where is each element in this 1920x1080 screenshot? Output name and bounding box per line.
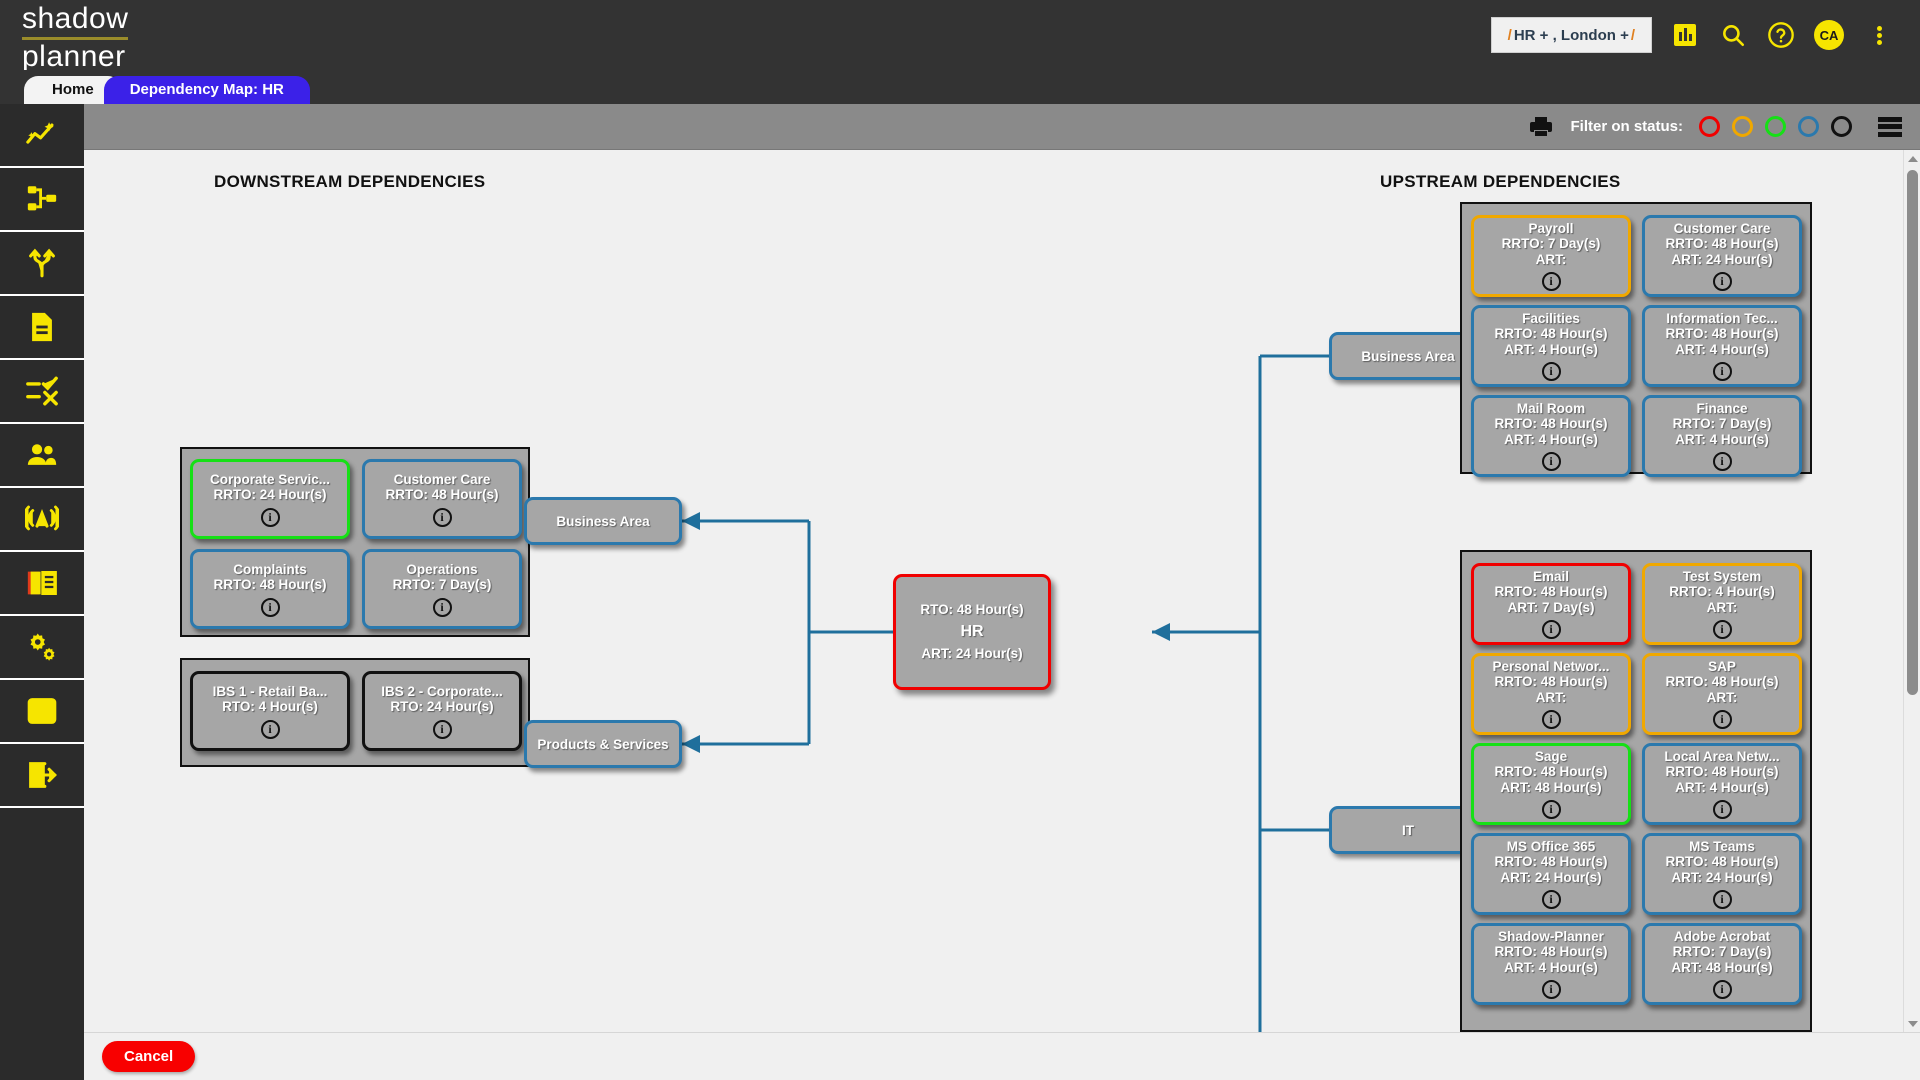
card-metric-2: ART: 7 Day(s): [1507, 600, 1594, 616]
card-metric-1: RRTO: 7 Day(s): [1502, 236, 1601, 252]
info-icon[interactable]: i: [1542, 362, 1561, 381]
card-finance[interactable]: Finance RRTO: 7 Day(s) ART: 4 Hour(s) i: [1642, 395, 1802, 477]
card-metric-2: ART: 48 Hour(s): [1671, 960, 1772, 976]
card-metric-2: ART: 4 Hour(s): [1675, 342, 1769, 358]
context-value: HR + , London +: [1514, 27, 1629, 44]
status-filter-green[interactable]: [1765, 116, 1786, 137]
center-node-hr[interactable]: RTO: 48 Hour(s) HR ART: 24 Hour(s): [893, 574, 1051, 690]
card-metric-1: RRTO: 48 Hour(s): [1494, 854, 1607, 870]
sidebar-item-analytics[interactable]: [0, 104, 84, 168]
card-name: Complaints: [229, 562, 311, 578]
card-name: IBS 1 - Retail Ba...: [209, 684, 332, 700]
print-icon[interactable]: [1530, 117, 1552, 137]
info-icon[interactable]: i: [433, 598, 452, 617]
login-icon: [25, 694, 59, 728]
sidebar-item-hierarchy[interactable]: [0, 168, 84, 232]
card-local-area-network[interactable]: Local Area Netw... RRTO: 48 Hour(s) ART:…: [1642, 743, 1802, 825]
card-name: Corporate Servic...: [206, 472, 334, 488]
card-information-technology[interactable]: Information Tec... RRTO: 48 Hour(s) ART:…: [1642, 305, 1802, 387]
card-metric-2: ART: 4 Hour(s): [1504, 960, 1598, 976]
logout-icon: [25, 758, 59, 792]
card-name: Sage: [1531, 749, 1571, 765]
card-customer-care-downstream[interactable]: Customer Care RRTO: 48 Hour(s) i: [362, 459, 522, 539]
avatar-initials: CA: [1814, 20, 1844, 50]
list-view-icon[interactable]: [1878, 117, 1902, 137]
card-metric-1: RRTO: 48 Hour(s): [1494, 764, 1607, 780]
card-name: Information Tec...: [1662, 311, 1782, 327]
info-icon[interactable]: i: [261, 598, 280, 617]
info-icon[interactable]: i: [1713, 272, 1732, 291]
card-metric-2: ART: 4 Hour(s): [1675, 780, 1769, 796]
card-name: Adobe Acrobat: [1670, 929, 1774, 945]
card-metric-1: RRTO: 24 Hour(s): [213, 487, 326, 503]
info-icon[interactable]: i: [1542, 980, 1561, 999]
top-header-bar: shadow planner / HR + , London + / CA: [0, 0, 1920, 70]
canvas-vertical-scrollbar[interactable]: [1903, 150, 1920, 1032]
card-metric-1: RRTO: 48 Hour(s): [1494, 326, 1607, 342]
left-nav-rail: [0, 104, 84, 1080]
pill-downstream-business-area[interactable]: Business Area: [524, 497, 682, 545]
card-metric-2: ART:: [1707, 600, 1738, 616]
report-icon[interactable]: [1668, 18, 1702, 52]
info-icon[interactable]: i: [1542, 272, 1561, 291]
card-metric-1: RRTO: 48 Hour(s): [1665, 236, 1778, 252]
context-suffix: /: [1629, 27, 1637, 44]
info-icon[interactable]: i: [1713, 710, 1732, 729]
card-name: Shadow-Planner: [1494, 929, 1608, 945]
tab-strip: Home Dependency Map: HR: [0, 70, 1920, 104]
card-name: Test System: [1679, 569, 1766, 585]
card-shadow-planner[interactable]: Shadow-Planner RRTO: 48 Hour(s) ART: 4 H…: [1471, 923, 1631, 1005]
app-logo[interactable]: shadow planner: [22, 4, 192, 73]
info-icon[interactable]: i: [433, 508, 452, 527]
info-icon[interactable]: i: [261, 508, 280, 527]
upstream-title: UPSTREAM DEPENDENCIES: [1380, 172, 1621, 192]
card-name: Email: [1529, 569, 1573, 585]
card-metric-1: RRTO: 48 Hour(s): [1665, 674, 1778, 690]
sidebar-item-checklist[interactable]: [0, 360, 84, 424]
card-metric-2: ART:: [1536, 252, 1567, 268]
card-metric-2: ART: 4 Hour(s): [1675, 432, 1769, 448]
scroll-down-arrow[interactable]: [1904, 1015, 1920, 1032]
card-metric-2: ART:: [1536, 690, 1567, 706]
card-metric-1: RRTO: 48 Hour(s): [213, 577, 326, 593]
card-name: Personal Networ...: [1488, 659, 1613, 675]
status-filter-black[interactable]: [1831, 116, 1852, 137]
card-customer-care-upstream[interactable]: Customer Care RRTO: 48 Hour(s) ART: 24 H…: [1642, 215, 1802, 297]
footer-bar: Cancel: [84, 1032, 1920, 1080]
card-name: Customer Care: [1670, 221, 1775, 237]
center-rto: RTO: 48 Hour(s): [920, 600, 1023, 620]
card-ibs-2-corporate[interactable]: IBS 2 - Corporate... RTO: 24 Hour(s) i: [362, 671, 522, 751]
card-metric-1: RTO: 24 Hour(s): [390, 699, 493, 715]
card-metric-1: RRTO: 7 Day(s): [1673, 416, 1772, 432]
card-name: Local Area Netw...: [1660, 749, 1783, 765]
info-icon[interactable]: i: [433, 720, 452, 739]
sidebar-item-people[interactable]: [0, 424, 84, 488]
arrow-to-products-services: [682, 735, 700, 753]
status-filter-amber[interactable]: [1732, 116, 1753, 137]
scroll-up-arrow[interactable]: [1904, 150, 1920, 167]
card-facilities[interactable]: Facilities RRTO: 48 Hour(s) ART: 4 Hour(…: [1471, 305, 1631, 387]
card-name: Customer Care: [390, 472, 495, 488]
map-toolbar: Filter on status:: [84, 104, 1920, 150]
card-name: Payroll: [1524, 221, 1577, 237]
info-icon[interactable]: i: [1713, 980, 1732, 999]
card-name: Facilities: [1518, 311, 1584, 327]
arrow-to-business-area: [682, 512, 700, 530]
card-metric-1: RRTO: 7 Day(s): [393, 577, 492, 593]
upstream-business-area-group: Payroll RRTO: 7 Day(s) ART: i Customer C…: [1460, 202, 1812, 474]
card-name: MS Office 365: [1503, 839, 1600, 855]
card-sap[interactable]: SAP RRTO: 48 Hour(s) ART: i: [1642, 653, 1802, 735]
card-name: Finance: [1692, 401, 1751, 417]
card-sage[interactable]: Sage RRTO: 48 Hour(s) ART: 48 Hour(s) i: [1471, 743, 1631, 825]
sidebar-item-broadcast[interactable]: [0, 488, 84, 552]
context-filter-field[interactable]: / HR + , London + /: [1491, 17, 1652, 53]
info-icon[interactable]: i: [1713, 620, 1732, 639]
info-icon[interactable]: i: [1713, 800, 1732, 819]
card-metric-2: ART: 48 Hour(s): [1500, 780, 1601, 796]
book-icon: [25, 566, 59, 600]
card-metric-1: RRTO: 7 Day(s): [1673, 944, 1772, 960]
sidebar-item-book[interactable]: [0, 552, 84, 616]
card-email[interactable]: Email RRTO: 48 Hour(s) ART: 7 Day(s) i: [1471, 563, 1631, 645]
info-icon[interactable]: i: [1713, 452, 1732, 471]
card-name: SAP: [1704, 659, 1740, 675]
card-metric-2: ART: 4 Hour(s): [1504, 342, 1598, 358]
info-icon[interactable]: i: [1542, 800, 1561, 819]
tab-dependency-map-hr[interactable]: Dependency Map: HR: [104, 76, 310, 104]
card-personal-network[interactable]: Personal Networ... RRTO: 48 Hour(s) ART:…: [1471, 653, 1631, 735]
status-filter-red[interactable]: [1699, 116, 1720, 137]
branch-icon: [25, 246, 59, 280]
info-icon[interactable]: i: [1542, 710, 1561, 729]
card-metric-1: RRTO: 48 Hour(s): [385, 487, 498, 503]
logo-line-planner: planner: [22, 40, 192, 73]
card-metric-1: RRTO: 48 Hour(s): [1665, 764, 1778, 780]
info-icon[interactable]: i: [1713, 362, 1732, 381]
help-icon[interactable]: [1764, 18, 1798, 52]
card-metric-1: RRTO: 48 Hour(s): [1494, 584, 1607, 600]
card-ms-teams[interactable]: MS Teams RRTO: 48 Hour(s) ART: 24 Hour(s…: [1642, 833, 1802, 915]
checklist-icon: [25, 374, 59, 408]
downstream-business-area-group: Corporate Servic... RRTO: 24 Hour(s) i C…: [180, 447, 530, 637]
card-test-system[interactable]: Test System RRTO: 4 Hour(s) ART: i: [1642, 563, 1802, 645]
logo-line-shadow: shadow: [22, 4, 128, 40]
info-icon[interactable]: i: [1542, 890, 1561, 909]
card-metric-2: ART: 24 Hour(s): [1500, 870, 1601, 886]
card-metric-1: RRTO: 48 Hour(s): [1665, 326, 1778, 342]
arrow-to-center-node: [1152, 623, 1170, 641]
kebab-menu-icon[interactable]: [1868, 18, 1890, 52]
info-icon[interactable]: i: [1713, 890, 1732, 909]
sidebar-item-logout[interactable]: [0, 744, 84, 808]
card-operations[interactable]: Operations RRTO: 7 Day(s) i: [362, 549, 522, 629]
info-icon[interactable]: i: [261, 720, 280, 739]
card-metric-1: RRTO: 48 Hour(s): [1665, 854, 1778, 870]
pill-downstream-products-services[interactable]: Products & Services: [524, 720, 682, 768]
card-name: MS Teams: [1685, 839, 1759, 855]
downstream-title: DOWNSTREAM DEPENDENCIES: [214, 172, 485, 192]
card-metric-1: RRTO: 48 Hour(s): [1494, 674, 1607, 690]
card-ms-office-365[interactable]: MS Office 365 RRTO: 48 Hour(s) ART: 24 H…: [1471, 833, 1631, 915]
search-icon[interactable]: [1716, 18, 1750, 52]
people-icon: [25, 438, 59, 472]
card-mail-room[interactable]: Mail Room RRTO: 48 Hour(s) ART: 4 Hour(s…: [1471, 395, 1631, 477]
card-metric-2: ART: 24 Hour(s): [1671, 252, 1772, 268]
sidebar-item-settings[interactable]: [0, 616, 84, 680]
card-payroll[interactable]: Payroll RRTO: 7 Day(s) ART: i: [1471, 215, 1631, 297]
dependency-map-canvas[interactable]: DOWNSTREAM DEPENDENCIES UPSTREAM DEPENDE…: [84, 150, 1904, 1032]
center-art: ART: 24 Hour(s): [921, 644, 1022, 664]
card-metric-2: ART: 4 Hour(s): [1504, 432, 1598, 448]
status-filter-blue[interactable]: [1798, 116, 1819, 137]
card-metric-2: ART: 24 Hour(s): [1671, 870, 1772, 886]
document-icon: [25, 310, 59, 344]
card-metric-1: RRTO: 4 Hour(s): [1669, 584, 1775, 600]
info-icon[interactable]: i: [1542, 452, 1561, 471]
cancel-button[interactable]: Cancel: [102, 1041, 195, 1072]
card-name: Operations: [402, 562, 481, 578]
card-metric-2: ART:: [1707, 690, 1738, 706]
card-adobe-acrobat[interactable]: Adobe Acrobat RRTO: 7 Day(s) ART: 48 Hou…: [1642, 923, 1802, 1005]
broadcast-icon: [25, 502, 59, 536]
settings-icon: [25, 630, 59, 664]
card-corporate-services[interactable]: Corporate Servic... RRTO: 24 Hour(s) i: [190, 459, 350, 539]
card-complaints[interactable]: Complaints RRTO: 48 Hour(s) i: [190, 549, 350, 629]
hierarchy-icon: [25, 182, 59, 216]
card-metric-1: RRTO: 48 Hour(s): [1494, 416, 1607, 432]
scroll-thumb[interactable]: [1907, 170, 1918, 695]
card-name: IBS 2 - Corporate...: [377, 684, 507, 700]
card-name: Mail Room: [1513, 401, 1589, 417]
sidebar-item-login[interactable]: [0, 680, 84, 744]
card-metric-1: RRTO: 48 Hour(s): [1494, 944, 1607, 960]
info-icon[interactable]: i: [1542, 620, 1561, 639]
context-prefix: /: [1506, 27, 1514, 44]
filter-on-status-label: Filter on status:: [1570, 118, 1683, 135]
sidebar-item-branch[interactable]: [0, 232, 84, 296]
downstream-products-services-group: IBS 1 - Retail Ba... RTO: 4 Hour(s) i IB…: [180, 658, 530, 767]
center-name: HR: [960, 620, 983, 644]
card-ibs-1-retail-banking[interactable]: IBS 1 - Retail Ba... RTO: 4 Hour(s) i: [190, 671, 350, 751]
upstream-it-group: Email RRTO: 48 Hour(s) ART: 7 Day(s) i T…: [1460, 550, 1812, 1032]
card-metric-1: RTO: 4 Hour(s): [222, 699, 318, 715]
sidebar-item-document[interactable]: [0, 296, 84, 360]
avatar[interactable]: CA: [1812, 18, 1846, 52]
analytics-icon: [25, 118, 59, 152]
